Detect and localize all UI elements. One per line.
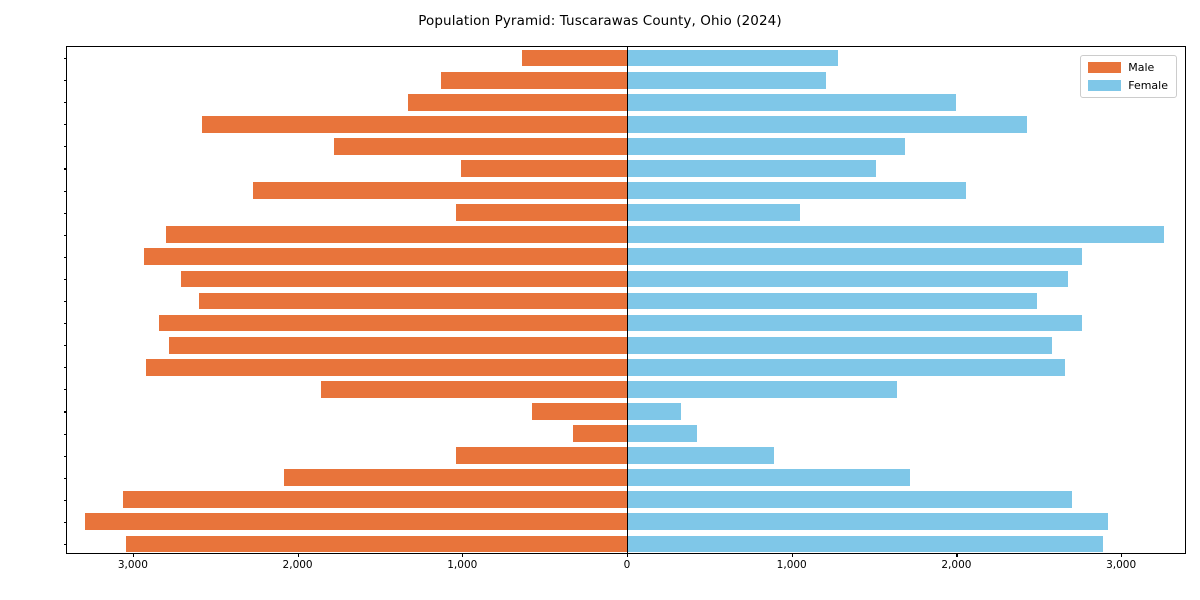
bar-row — [67, 491, 1185, 508]
x-tick-label: 0 — [624, 559, 631, 571]
female-bar[interactable] — [627, 271, 1068, 288]
female-bar[interactable] — [627, 204, 800, 221]
y-tick-mark — [64, 146, 68, 147]
bar-row — [67, 536, 1185, 553]
male-bar[interactable] — [166, 226, 627, 243]
male-bar[interactable] — [522, 50, 627, 67]
legend-entry-female[interactable]: Female — [1088, 79, 1168, 92]
bars-layer — [67, 47, 1185, 553]
x-tick-label: 3,000 — [1106, 559, 1136, 571]
chart-legend: MaleFemale — [1080, 55, 1177, 98]
bar-row — [67, 469, 1185, 486]
y-tick-mark — [64, 301, 68, 302]
y-tick-mark — [64, 168, 68, 169]
male-bar[interactable] — [334, 138, 627, 155]
y-tick-mark — [64, 367, 68, 368]
male-bar[interactable] — [441, 72, 627, 89]
male-bar[interactable] — [126, 536, 627, 553]
bar-row — [67, 226, 1185, 243]
male-bar[interactable] — [532, 403, 627, 420]
female-bar[interactable] — [627, 403, 681, 420]
chart-title: Population Pyramid: Tuscarawas County, O… — [0, 13, 1200, 29]
y-tick-mark — [64, 80, 68, 81]
male-bar[interactable] — [321, 381, 627, 398]
bar-row — [67, 513, 1185, 530]
bar-row — [67, 50, 1185, 67]
legend-label: Female — [1128, 79, 1168, 92]
x-tick-mark — [1121, 553, 1122, 557]
male-bar[interactable] — [456, 204, 627, 221]
male-bar[interactable] — [159, 315, 627, 332]
male-bar[interactable] — [461, 160, 627, 177]
female-bar[interactable] — [627, 72, 826, 89]
female-bar[interactable] — [627, 469, 910, 486]
y-tick-mark — [64, 522, 68, 523]
male-bar[interactable] — [199, 293, 627, 310]
male-bar[interactable] — [146, 359, 627, 376]
bar-row — [67, 403, 1185, 420]
bar-row — [67, 204, 1185, 221]
bar-row — [67, 271, 1185, 288]
x-tick-mark — [133, 553, 134, 557]
y-tick-mark — [64, 345, 68, 346]
male-bar[interactable] — [123, 491, 627, 508]
female-bar[interactable] — [627, 315, 1082, 332]
y-tick-mark — [64, 102, 68, 103]
x-tick-mark — [627, 553, 628, 557]
y-tick-mark — [64, 279, 68, 280]
male-bar[interactable] — [253, 182, 627, 199]
female-bar[interactable] — [627, 226, 1164, 243]
bar-row — [67, 160, 1185, 177]
x-tick-mark — [792, 553, 793, 557]
bar-row — [67, 72, 1185, 89]
zero-axis-line — [627, 47, 628, 553]
bar-row — [67, 359, 1185, 376]
female-bar[interactable] — [627, 337, 1052, 354]
male-bar[interactable] — [202, 116, 627, 133]
female-color-swatch — [1088, 80, 1121, 91]
y-tick-mark — [64, 456, 68, 457]
female-bar[interactable] — [627, 536, 1103, 553]
bar-row — [67, 337, 1185, 354]
x-tick-label: 2,000 — [941, 559, 971, 571]
female-bar[interactable] — [627, 160, 876, 177]
female-bar[interactable] — [627, 381, 897, 398]
male-bar[interactable] — [408, 94, 627, 111]
y-tick-mark — [64, 500, 68, 501]
x-tick-mark — [462, 553, 463, 557]
y-tick-mark — [64, 213, 68, 214]
x-tick-mark — [956, 553, 957, 557]
female-bar[interactable] — [627, 513, 1108, 530]
legend-label: Male — [1128, 61, 1154, 74]
y-tick-mark — [64, 544, 68, 545]
female-bar[interactable] — [627, 425, 697, 442]
female-bar[interactable] — [627, 248, 1082, 265]
y-tick-mark — [64, 58, 68, 59]
y-tick-mark — [64, 191, 68, 192]
x-tick-label: 2,000 — [283, 559, 313, 571]
bar-row — [67, 116, 1185, 133]
y-tick-mark — [64, 434, 68, 435]
female-bar[interactable] — [627, 50, 838, 67]
y-tick-mark — [64, 478, 68, 479]
male-bar[interactable] — [284, 469, 627, 486]
female-bar[interactable] — [627, 94, 956, 111]
female-bar[interactable] — [627, 116, 1027, 133]
male-bar[interactable] — [169, 337, 627, 354]
male-bar[interactable] — [573, 425, 627, 442]
male-color-swatch — [1088, 62, 1121, 73]
y-tick-mark — [64, 235, 68, 236]
legend-entry-male[interactable]: Male — [1088, 61, 1168, 74]
bar-row — [67, 138, 1185, 155]
bar-row — [67, 248, 1185, 265]
female-bar[interactable] — [627, 293, 1037, 310]
bar-row — [67, 315, 1185, 332]
male-bar[interactable] — [456, 447, 627, 464]
bar-row — [67, 425, 1185, 442]
x-tick-label: 3,000 — [118, 559, 148, 571]
x-tick-mark — [298, 553, 299, 557]
male-bar[interactable] — [85, 513, 627, 530]
x-tick-label: 1,000 — [447, 559, 477, 571]
male-bar[interactable] — [144, 248, 627, 265]
y-tick-mark — [64, 411, 68, 412]
population-pyramid-figure: Population Pyramid: Tuscarawas County, O… — [0, 0, 1200, 600]
male-bar[interactable] — [181, 271, 627, 288]
bar-row — [67, 447, 1185, 464]
y-tick-mark — [64, 389, 68, 390]
bar-row — [67, 94, 1185, 111]
y-tick-mark — [64, 257, 68, 258]
female-bar[interactable] — [627, 359, 1065, 376]
plot-area: 85+80-8475-7970-7467-6965-6662-6460-6155… — [66, 46, 1186, 554]
bar-row — [67, 381, 1185, 398]
x-tick-label: 1,000 — [777, 559, 807, 571]
female-bar[interactable] — [627, 491, 1072, 508]
female-bar[interactable] — [627, 182, 966, 199]
bar-row — [67, 182, 1185, 199]
female-bar[interactable] — [627, 447, 774, 464]
y-tick-mark — [64, 323, 68, 324]
y-tick-mark — [64, 124, 68, 125]
female-bar[interactable] — [627, 138, 905, 155]
bar-row — [67, 293, 1185, 310]
